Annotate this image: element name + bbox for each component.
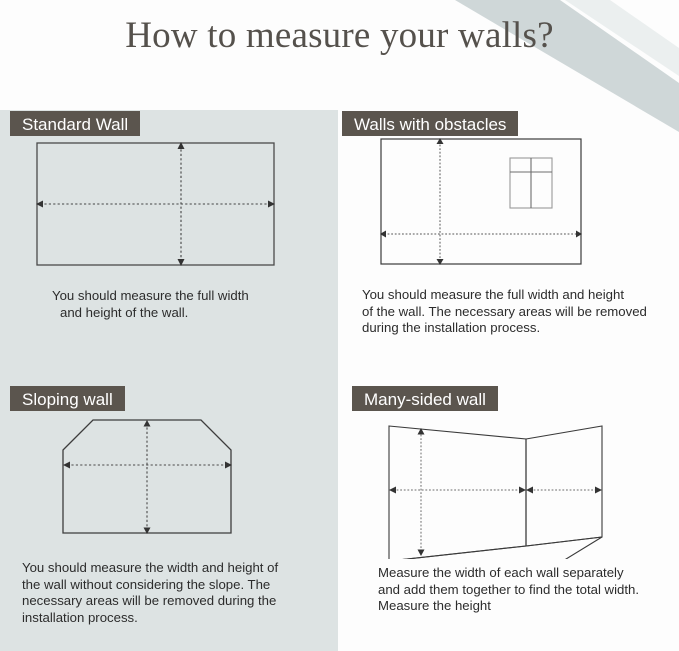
window-obstacle-icon xyxy=(510,158,552,208)
section-heading-walls-with-obstacles: Walls with obstacles xyxy=(342,111,518,136)
caption-many-sided-wall: Measure the width of each wall separatel… xyxy=(378,565,668,615)
page-title: How to measure your walls? xyxy=(0,14,679,58)
caption-walls-with-obstacles: You should measure the full width and he… xyxy=(362,287,672,337)
how-to-measure-walls-infographic: How to measure your walls? Standard Wall… xyxy=(0,0,679,651)
caption-standard-wall: You should measure the full width and he… xyxy=(52,288,312,321)
many-sided-wall-corner-perspective-diagram xyxy=(364,409,654,559)
section-many-sided-wall: Many-sided wall Measure the width xyxy=(338,385,679,651)
section-walls-with-obstacles: Walls with obstacles You should measure … xyxy=(338,110,679,385)
section-heading-sloping-wall: Sloping wall xyxy=(10,386,125,411)
standard-wall-rectangle-diagram xyxy=(36,142,306,277)
section-heading-many-sided-wall: Many-sided wall xyxy=(352,386,498,411)
sloping-wall-chamfered-diagram xyxy=(26,411,306,546)
wall-with-window-obstacle-diagram xyxy=(380,138,650,278)
section-standard-wall: Standard Wall You should measure the ful… xyxy=(0,110,338,385)
caption-sloping-wall: You should measure the width and height … xyxy=(22,560,314,626)
section-sloping-wall: Sloping wall You should measure the widt… xyxy=(0,385,338,651)
section-heading-standard-wall: Standard Wall xyxy=(10,111,140,136)
